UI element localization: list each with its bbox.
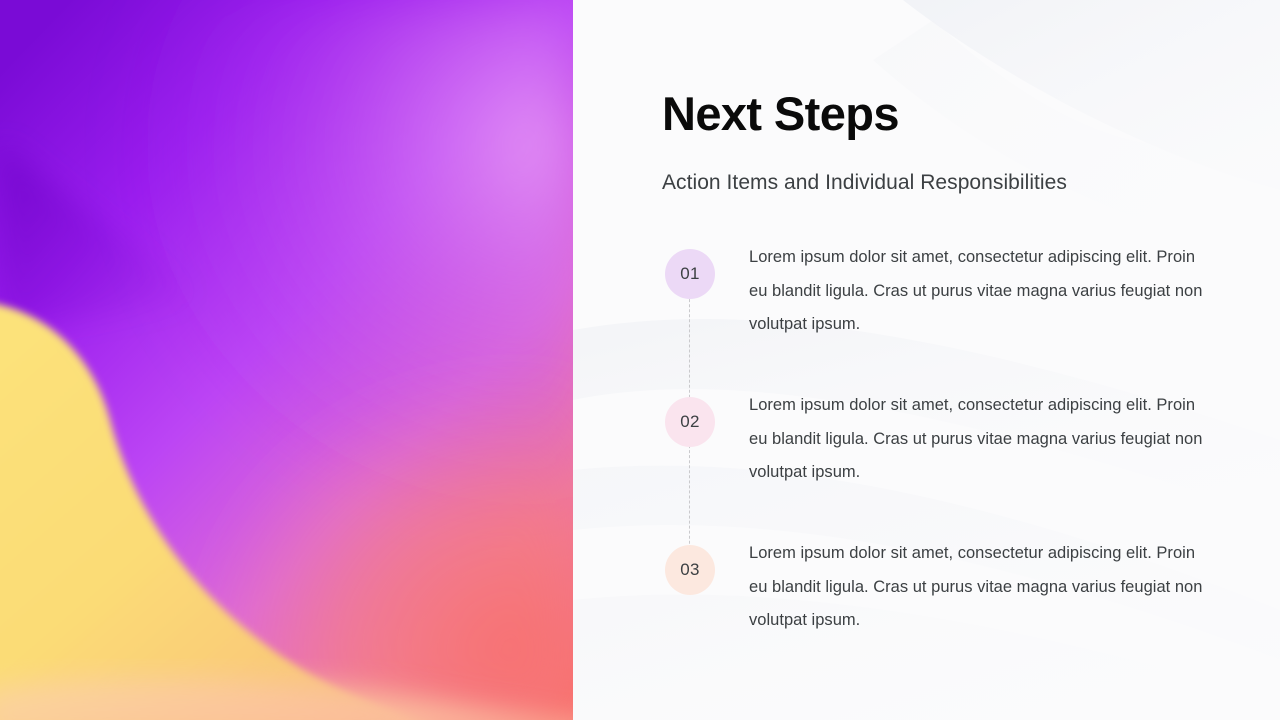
timeline-step[interactable]: 03 Lorem ipsum dolor sit amet, consectet…: [573, 545, 1280, 655]
step-description-03: Lorem ipsum dolor sit amet, consectetur …: [749, 537, 1211, 638]
content-panel: Next Steps Action Items and Individual R…: [573, 0, 1280, 720]
step-number-badge-01: 01: [665, 249, 715, 299]
step-number-badge-02: 02: [665, 397, 715, 447]
timeline-step[interactable]: 02 Lorem ipsum dolor sit amet, consectet…: [573, 397, 1280, 507]
page-subtitle: Action Items and Individual Responsibili…: [662, 169, 1067, 196]
page-title: Next Steps: [662, 90, 899, 137]
step-number-badge-03: 03: [665, 545, 715, 595]
gradient-artwork-svg: [0, 0, 573, 720]
slide: Next Steps Action Items and Individual R…: [0, 0, 1280, 720]
timeline-step[interactable]: 01 Lorem ipsum dolor sit amet, consectet…: [573, 249, 1280, 359]
step-description-02: Lorem ipsum dolor sit amet, consectetur …: [749, 389, 1211, 490]
decorative-gradient-artwork: [0, 0, 573, 720]
step-description-01: Lorem ipsum dolor sit amet, consectetur …: [749, 241, 1211, 342]
